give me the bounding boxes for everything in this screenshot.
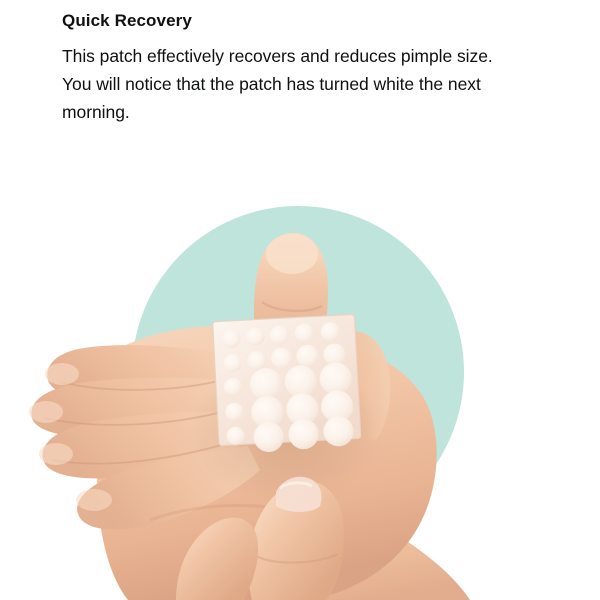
- feature-text-block: Quick Recovery This patch effectively re…: [62, 10, 522, 126]
- middle-finger-tip-highlight: [266, 234, 318, 274]
- page-title: Quick Recovery: [62, 10, 522, 32]
- hand-holding-patch-sheet-illustration: [0, 170, 600, 600]
- patch-sheet-sheen: [213, 314, 361, 445]
- feature-image: [0, 170, 600, 600]
- acne-patch-sheet: [213, 314, 362, 454]
- feature-panel: Quick Recovery This patch effectively re…: [0, 0, 600, 600]
- feature-description: This patch effectively recovers and redu…: [62, 42, 514, 126]
